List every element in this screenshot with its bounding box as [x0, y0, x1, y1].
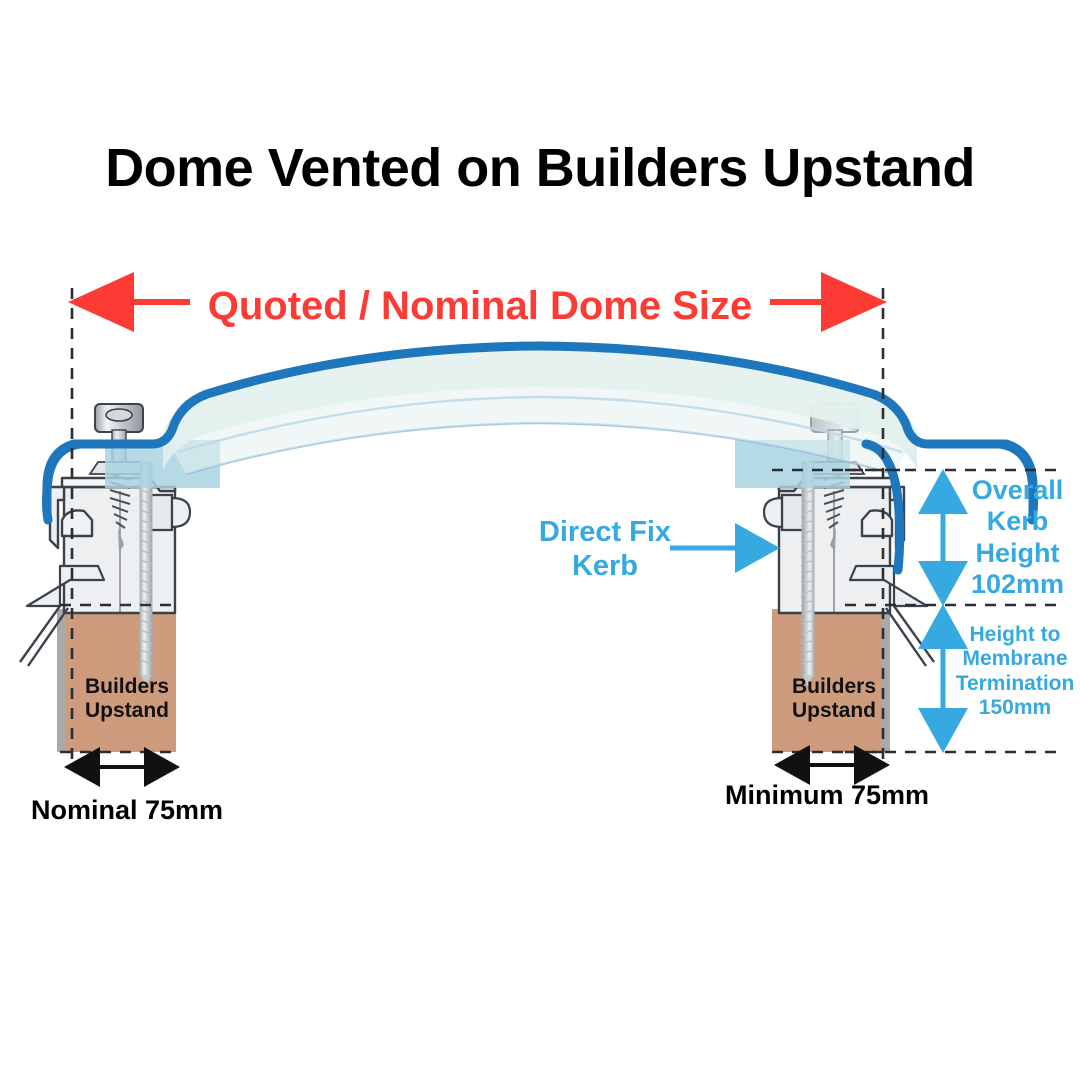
diagram-canvas: Dome Vented on Builders Upstand: [0, 0, 1080, 1080]
overall-kerb-height-label: Overall Kerb Height 102mm: [955, 475, 1080, 600]
dome-size-label: Quoted / Nominal Dome Size: [195, 283, 765, 329]
upstand-width-left-label: Nominal 75mm: [12, 795, 242, 826]
membrane-termination-label: Height to Membrane Termination 150mm: [950, 623, 1080, 720]
builders-upstand-left-label: Builders Upstand: [63, 675, 191, 724]
builders-upstand-right-label: Builders Upstand: [770, 675, 898, 724]
direct-fix-kerb-label: Direct Fix Kerb: [515, 516, 695, 583]
upstand-width-right-label: Minimum 75mm: [707, 780, 947, 811]
